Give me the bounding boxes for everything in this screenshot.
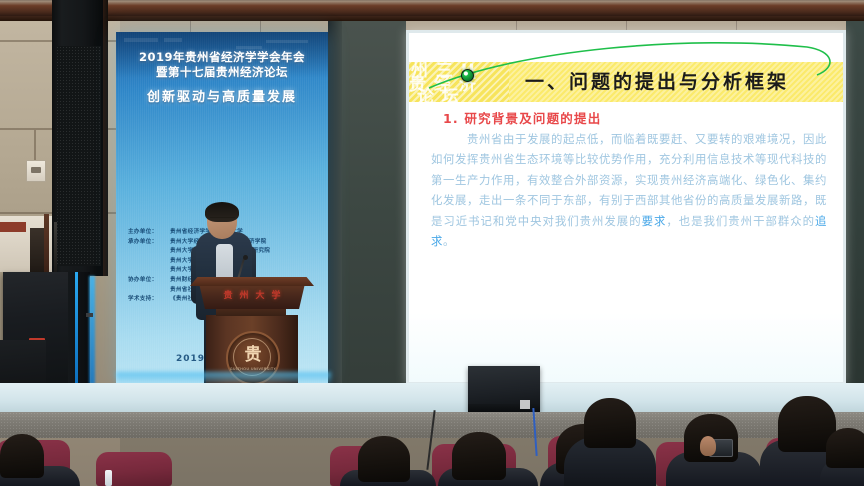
speaker-grille bbox=[56, 46, 101, 266]
podium-neck bbox=[216, 308, 286, 316]
ceiling-cornice-shadow bbox=[0, 16, 864, 21]
microphone-icon bbox=[243, 255, 248, 260]
slide-title: 一、问题的提出与分析框架 bbox=[525, 66, 835, 98]
monitor-label-icon bbox=[520, 400, 530, 409]
audience-head bbox=[0, 434, 44, 478]
conference-photograph: 2019年贵州省经济学学会年会 暨第十七届贵州经济论坛 创新驱动与高质量发展 主… bbox=[0, 0, 864, 486]
audience-head bbox=[584, 398, 636, 448]
light-switch[interactable] bbox=[31, 167, 41, 173]
organizer-label: 学术支持： bbox=[128, 295, 170, 305]
column-edge-trim bbox=[103, 0, 108, 276]
audience-head bbox=[826, 428, 864, 468]
background-red-panel bbox=[0, 222, 26, 232]
organizer-label: 承办单位： bbox=[128, 238, 170, 248]
body-segment: ，也是我们贵州干部群众的 bbox=[666, 214, 815, 228]
banner-title-line2: 暨第十七届贵州经济论坛 bbox=[116, 65, 328, 80]
led-decor-bar bbox=[266, 40, 308, 43]
body-highlight: 要求 bbox=[642, 214, 667, 228]
wall-seam bbox=[34, 130, 36, 162]
water-bottle bbox=[105, 470, 112, 486]
presentation-slide: 州 三 U 贵 经 济 论 坛 一、问题的提出与分析框架 1. 研究背景及问题的… bbox=[409, 33, 843, 382]
door-frame bbox=[44, 214, 49, 274]
light-switch-plate[interactable] bbox=[26, 160, 46, 182]
glasses-icon bbox=[210, 217, 235, 223]
banner-title-line1: 2019年贵州省经济学学会年会 bbox=[116, 50, 328, 65]
led-decor-bar bbox=[164, 38, 182, 42]
floor-speaker-side bbox=[68, 272, 90, 384]
slide-body-text: 贵州省由于发展的起点低，而临着既要赶、又要转的艰难境况，因此如何发挥贵州省生态环… bbox=[431, 129, 827, 251]
dark-wall-edge bbox=[328, 21, 342, 415]
stage-blue-light-glow bbox=[89, 276, 95, 384]
body-segment: 。 bbox=[443, 234, 455, 248]
stage-blue-light bbox=[75, 272, 78, 384]
vertical-pole bbox=[54, 222, 57, 274]
led-decor-bar bbox=[124, 38, 158, 42]
podium-lectern-top bbox=[190, 277, 314, 286]
banner-title-group: 2019年贵州省经济学学会年会 暨第十七届贵州经济论坛 创新驱动与高质量发展 bbox=[116, 50, 328, 105]
speaker-knob bbox=[86, 313, 93, 317]
emblem-glyph: 贵 bbox=[228, 347, 278, 364]
slide-subtitle: 1. 研究背景及问题的提出 bbox=[443, 108, 601, 127]
audience-head bbox=[358, 436, 410, 482]
background-door bbox=[30, 228, 44, 272]
banner-date: 2019 bbox=[176, 354, 205, 364]
organizer-label: 协办单位： bbox=[128, 276, 170, 286]
banner-theme: 创新驱动与高质量发展 bbox=[116, 86, 328, 105]
audience-hand bbox=[700, 436, 716, 456]
led-decor-bar bbox=[236, 46, 262, 49]
organizer-label: 主办单位： bbox=[128, 228, 170, 238]
dark-wall-right-of-screen bbox=[846, 21, 864, 415]
ceiling-cornice bbox=[0, 0, 864, 16]
audience-head bbox=[452, 432, 506, 480]
emblem-english-text: GUIZHOU UNIVERSITY bbox=[228, 367, 278, 371]
stage-floor bbox=[0, 383, 864, 415]
swoosh-ball-icon bbox=[461, 69, 474, 82]
podium-sign-text: 贵州大学 bbox=[196, 288, 308, 301]
